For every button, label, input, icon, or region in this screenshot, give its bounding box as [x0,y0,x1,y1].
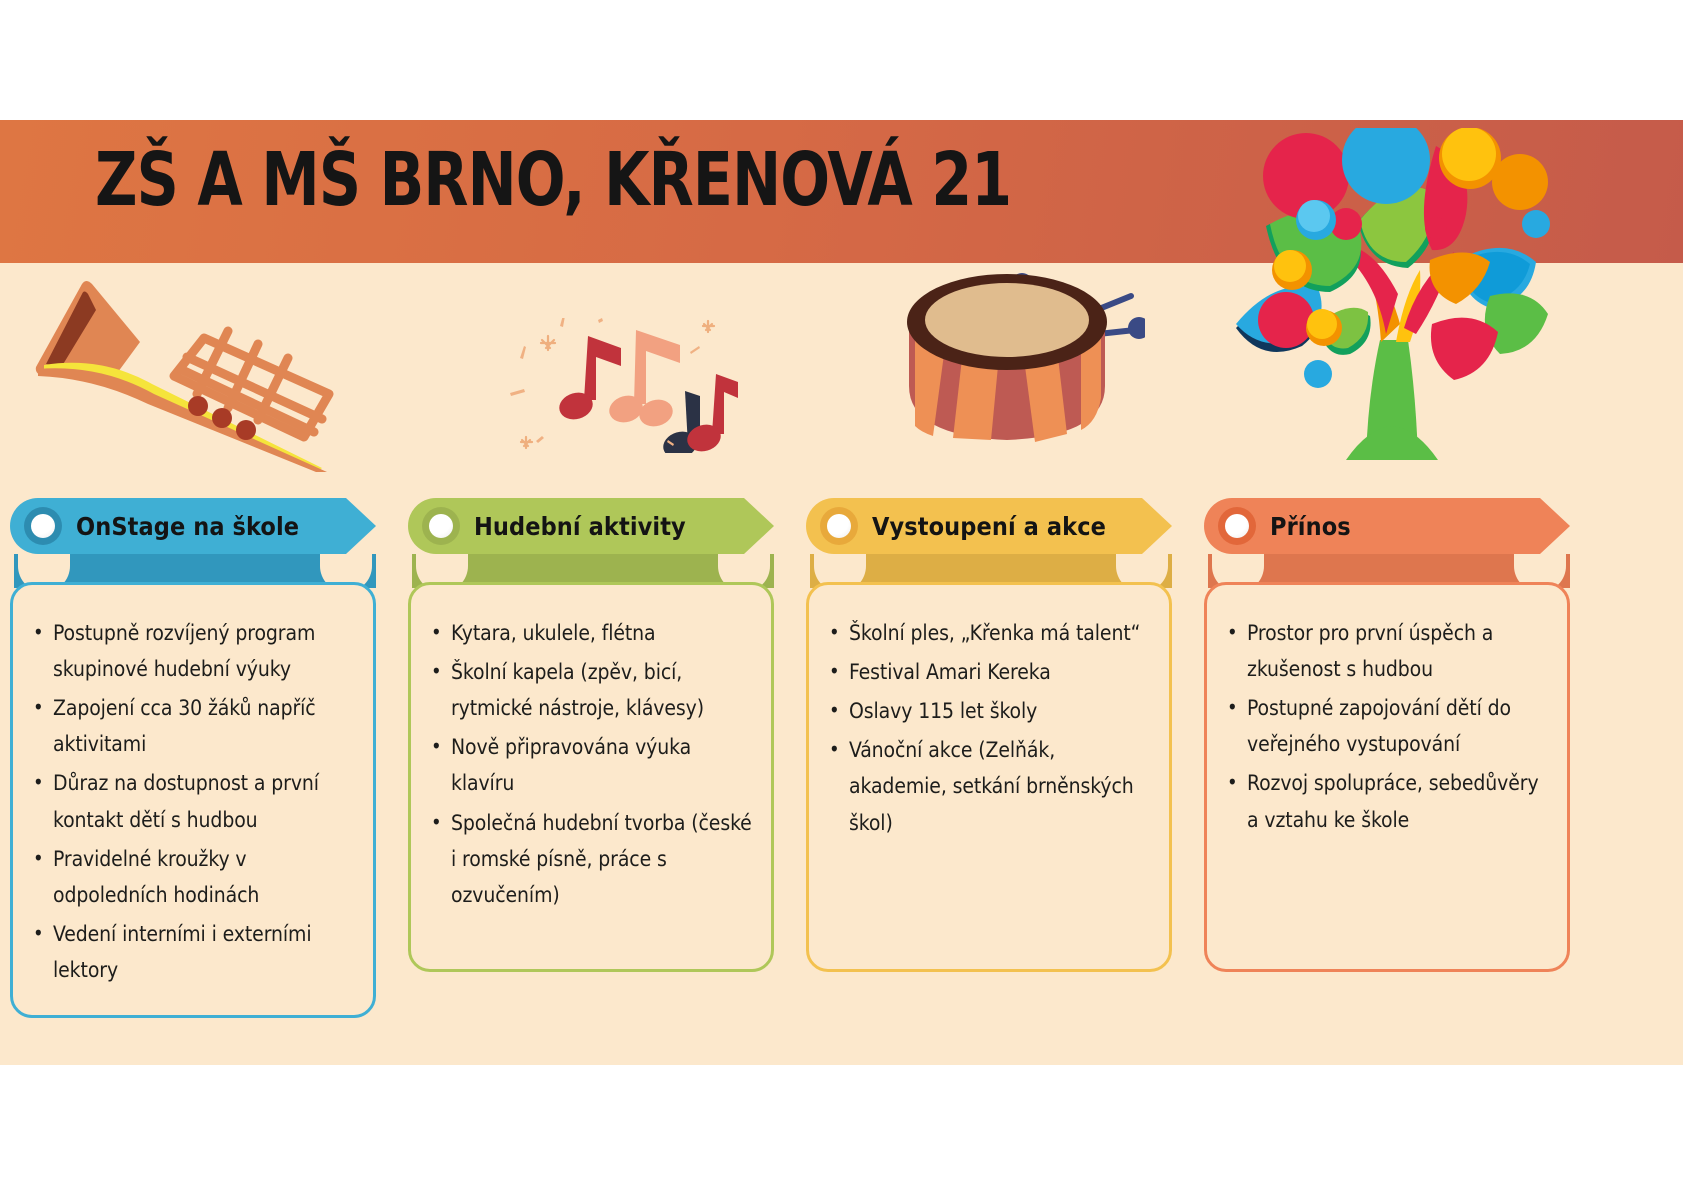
column-content-card: Prostor pro první úspěch a zkušenost s h… [1204,582,1570,972]
list-item: Vánoční akce (Zelňák, akademie, setkání … [823,732,1151,840]
list-item: Školní kapela (zpěv, bicí, rytmické nást… [425,654,753,726]
infographic-page: ZŠ A MŠ BRNO, KŘENOVÁ 21 [0,0,1683,1190]
music-notes-illustration [508,318,738,458]
bullet-badge-icon [24,507,62,545]
bullet-badge-icon [1218,507,1256,545]
list-item: Společná hudební tvorba (české i romské … [425,805,753,913]
list-item: Oslavy 115 let školy [823,693,1151,729]
list-item: Zapojení cca 30 žáků napříč aktivitami [27,690,355,762]
list-item: Nově připravována výuka klavíru [425,729,753,801]
list-item: Důraz na dostupnost a první kontakt dětí… [27,765,355,837]
bullet-list: Postupně rozvíjený program skupinové hud… [27,615,355,988]
column-title: OnStage na škole [76,512,299,541]
column-title: Hudební aktivity [474,512,686,541]
list-item: Vedení interními i externími lektory [27,916,355,988]
bullet-list: Školní ples, „Křenka má talent“ Festival… [823,615,1151,841]
trumpet-illustration [22,272,372,477]
column-content-card: Školní ples, „Křenka má talent“ Festival… [806,582,1172,972]
page-title: ZŠ A MŠ BRNO, KŘENOVÁ 21 [95,142,1011,220]
column-header-banner[interactable]: OnStage na škole [10,498,376,554]
list-item: Školní ples, „Křenka má talent“ [823,615,1151,651]
list-item: Kytara, ukulele, flétna [425,615,753,651]
columns-container: OnStage na škole Postupně rozvíjený prog… [0,498,1683,998]
list-item: Postupně rozvíjený program skupinové hud… [27,615,355,687]
column-onstage-na-skole: OnStage na škole Postupně rozvíjený prog… [10,498,440,1018]
bullet-list: Kytara, ukulele, flétna Školní kapela (z… [425,615,753,913]
column-content-card: Kytara, ukulele, flétna Školní kapela (z… [408,582,774,972]
drum-illustration [895,258,1145,478]
column-prinos: Přínos Prostor pro první úspěch a zkušen… [1204,498,1634,972]
bullet-list: Prostor pro první úspěch a zkušenost s h… [1221,615,1549,838]
colorful-tree-logo [1218,128,1558,473]
column-title: Přínos [1270,512,1351,541]
column-content-card: Postupně rozvíjený program skupinové hud… [10,582,376,1018]
list-item: Festival Amari Kereka [823,654,1151,690]
column-header-banner[interactable]: Hudební aktivity [408,498,774,554]
list-item: Pravidelné kroužky v odpoledních hodinác… [27,841,355,913]
column-header-banner[interactable]: Vystoupení a akce [806,498,1172,554]
column-hudebni-aktivity: Hudební aktivity Kytara, ukulele, flétna… [408,498,838,972]
list-item: Rozvoj spolupráce, sebedůvěry a vztahu k… [1221,765,1549,837]
column-header-banner[interactable]: Přínos [1204,498,1570,554]
list-item: Prostor pro první úspěch a zkušenost s h… [1221,615,1549,687]
column-vystoupeni-a-akce: Vystoupení a akce Školní ples, „Křenka m… [806,498,1236,972]
bullet-badge-icon [820,507,858,545]
list-item: Postupné zapojování dětí do veřejného vy… [1221,690,1549,762]
column-title: Vystoupení a akce [872,512,1106,541]
bullet-badge-icon [422,507,460,545]
